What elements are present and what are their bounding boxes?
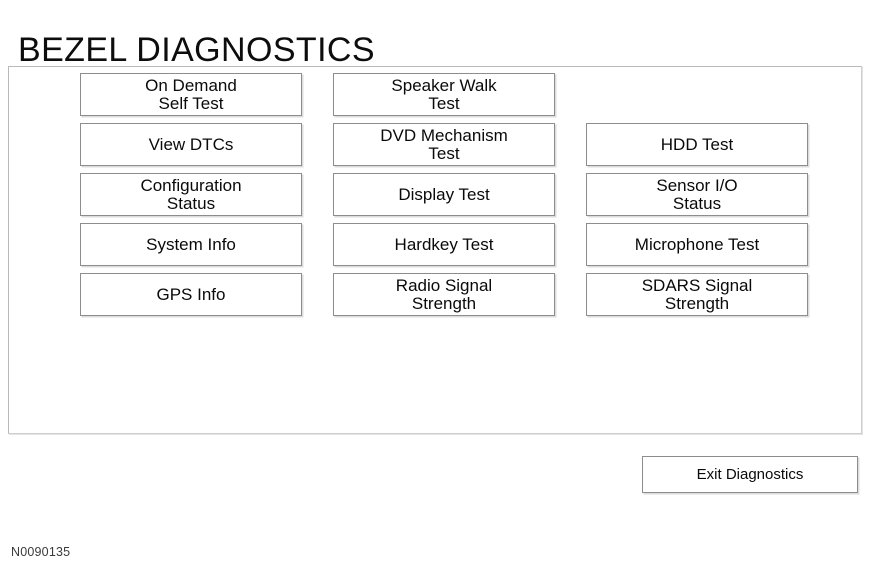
button-radio-signal-strength[interactable]: Radio Signal Strength (333, 273, 555, 316)
exit-diagnostics-button[interactable]: Exit Diagnostics (642, 456, 858, 493)
button-label: System Info (146, 236, 236, 254)
button-label: Display Test (398, 186, 489, 204)
button-label: Speaker Walk Test (391, 77, 496, 112)
button-on-demand-self-test[interactable]: On Demand Self Test (80, 73, 302, 116)
button-hardkey-test[interactable]: Hardkey Test (333, 223, 555, 266)
button-view-dtcs[interactable]: View DTCs (80, 123, 302, 166)
button-speaker-walk-test[interactable]: Speaker Walk Test (333, 73, 555, 116)
button-label: GPS Info (157, 286, 226, 304)
figure-reference-code: N0090135 (11, 545, 70, 559)
button-dvd-mechanism-test[interactable]: DVD Mechanism Test (333, 123, 555, 166)
button-display-test[interactable]: Display Test (333, 173, 555, 216)
button-label: SDARS Signal Strength (642, 277, 753, 312)
button-label: Hardkey Test (395, 236, 494, 254)
button-configuration-status[interactable]: Configuration Status (80, 173, 302, 216)
button-label: On Demand Self Test (145, 77, 237, 112)
button-hdd-test[interactable]: HDD Test (586, 123, 808, 166)
button-label: View DTCs (149, 136, 234, 154)
button-sensor-io-status[interactable]: Sensor I/O Status (586, 173, 808, 216)
diagnostics-button-grid: On Demand Self Test View DTCs Configurat… (80, 73, 814, 318)
button-microphone-test[interactable]: Microphone Test (586, 223, 808, 266)
exit-button-label: Exit Diagnostics (697, 467, 804, 483)
button-label: Microphone Test (635, 236, 759, 254)
button-label: Sensor I/O Status (656, 177, 737, 212)
button-label: HDD Test (661, 136, 733, 154)
button-label: Configuration Status (140, 177, 241, 212)
button-system-info[interactable]: System Info (80, 223, 302, 266)
button-sdars-signal-strength[interactable]: SDARS Signal Strength (586, 273, 808, 316)
button-label: Radio Signal Strength (396, 277, 492, 312)
button-gps-info[interactable]: GPS Info (80, 273, 302, 316)
diagnostics-screen: BEZEL DIAGNOSTICS On Demand Self Test Vi… (0, 0, 870, 570)
page-title: BEZEL DIAGNOSTICS (18, 31, 375, 69)
button-label: DVD Mechanism Test (380, 127, 508, 162)
